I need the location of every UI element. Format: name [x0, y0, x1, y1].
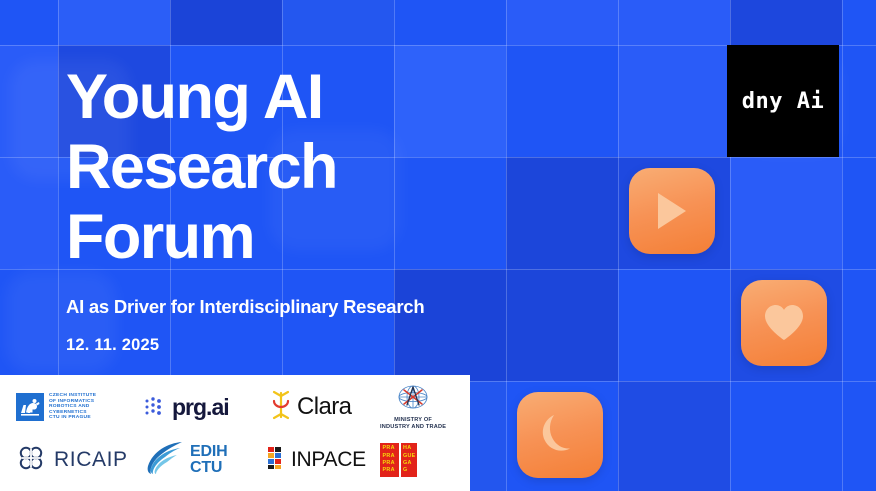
prgai-label: prg.ai	[172, 394, 229, 421]
czech-institute-label: CZECH INSTITUTE OF INFORMATICS ROBOTICS …	[49, 393, 96, 421]
event-date: 12. 11. 2025	[66, 336, 536, 355]
logo-row-2: RICAIP EDIH CTU	[16, 437, 476, 483]
prague-left-line: PRA	[383, 453, 395, 460]
inpace-blocks-icon	[268, 447, 288, 474]
inpace-label: INPACE	[291, 448, 366, 472]
prague-left-line: PRA	[383, 467, 395, 474]
edih-ctu-label: EDIH CTU	[190, 444, 227, 476]
prgai-logo: prg.ai	[144, 394, 268, 421]
prague-right-line: HA	[403, 445, 411, 452]
ministry-globe-icon	[391, 383, 435, 416]
heart-icon	[763, 303, 805, 343]
prague-logo: PRA PRA PRA PRA HA GUE GA G	[380, 443, 476, 478]
ricaip-knot-icon	[16, 443, 46, 478]
prague-right-column: HA GUE GA G	[401, 443, 417, 478]
prague-left-line: PRA	[383, 460, 395, 467]
heart-tile[interactable]	[741, 280, 827, 366]
edih-ctu-logo: EDIH CTU	[144, 439, 268, 482]
prague-left-line: PRA	[383, 445, 395, 452]
prague-right-line: GUE	[403, 453, 416, 460]
page-title: Young AI Research Forum	[66, 62, 536, 272]
play-tile[interactable]	[629, 168, 715, 254]
ministry-label: MINISTRY OF INDUSTRY AND TRADE	[380, 417, 446, 431]
ministry-logo: MINISTRY OF INDUSTRY AND TRADE	[380, 383, 476, 431]
prague-left-column: PRA PRA PRA PRA	[380, 443, 399, 478]
ricaip-logo: RICAIP	[16, 443, 144, 478]
prague-right-line: G	[403, 467, 408, 474]
clara-label: Clara	[297, 393, 351, 421]
dny-ai-label: dny Ai	[742, 89, 824, 114]
inpace-logo: INPACE	[268, 447, 380, 474]
title-block: Young AI Research Forum AI as Driver for…	[66, 62, 536, 355]
clara-mark-icon	[268, 389, 294, 426]
moon-icon	[540, 414, 580, 456]
czech-institute-logo: CZECH INSTITUTE OF INFORMATICS ROBOTICS …	[16, 393, 144, 421]
logo-row-1: CZECH INSTITUTE OF INFORMATICS ROBOTICS …	[16, 383, 476, 431]
prgai-dots-icon	[144, 396, 166, 418]
play-icon	[652, 190, 692, 232]
edih-wave-icon	[144, 439, 186, 482]
moon-tile[interactable]	[517, 392, 603, 478]
partner-logo-panel: CZECH INSTITUTE OF INFORMATICS ROBOTICS …	[0, 375, 470, 491]
poster-canvas: Young AI Research Forum AI as Driver for…	[0, 0, 876, 491]
ricaip-label: RICAIP	[54, 448, 128, 472]
page-subtitle: AI as Driver for Interdisciplinary Resea…	[66, 296, 536, 318]
clara-logo: Clara	[268, 389, 380, 426]
ciirc-emblem-icon	[16, 393, 44, 421]
prague-right-line: GA	[403, 460, 412, 467]
dny-ai-logo: dny Ai	[727, 45, 839, 157]
